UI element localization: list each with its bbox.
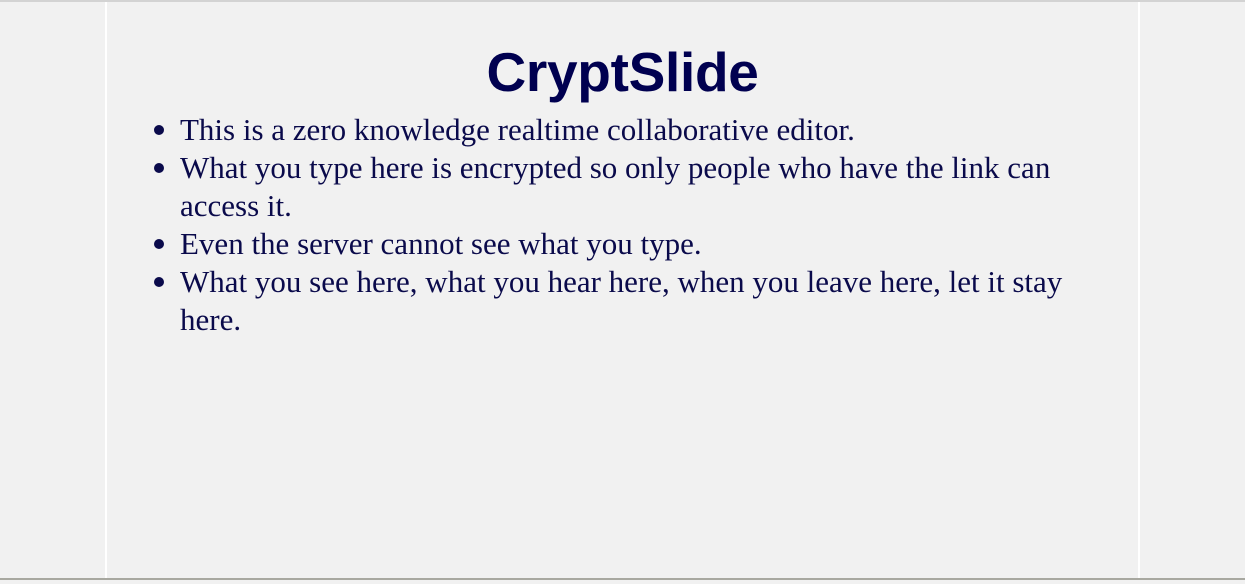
slide-canvas[interactable]: CryptSlide This is a zero knowledge real…: [105, 2, 1140, 578]
page-title: CryptSlide: [107, 2, 1138, 100]
slide-viewport: CryptSlide This is a zero knowledge real…: [0, 0, 1245, 584]
bullet-dot-icon: [154, 277, 164, 287]
list-item-text: This is a zero knowledge realtime collab…: [180, 112, 855, 147]
bullet-dot-icon: [154, 163, 164, 173]
list-item-text: Even the server cannot see what you type…: [180, 226, 702, 261]
bottom-divider: [0, 578, 1245, 580]
list-item-text: What you see here, what you hear here, w…: [180, 264, 1062, 337]
bullet-dot-icon: [154, 125, 164, 135]
slide-content-area[interactable]: CryptSlide This is a zero knowledge real…: [107, 2, 1138, 578]
list-item: This is a zero knowledge realtime collab…: [107, 111, 1138, 149]
bullet-dot-icon: [154, 239, 164, 249]
list-item: What you see here, what you hear here, w…: [107, 263, 1138, 339]
list-item: What you type here is encrypted so only …: [107, 149, 1138, 225]
list-item-text: What you type here is encrypted so only …: [180, 150, 1050, 223]
slide-bullet-list: This is a zero knowledge realtime collab…: [107, 111, 1138, 339]
list-item: Even the server cannot see what you type…: [107, 225, 1138, 263]
